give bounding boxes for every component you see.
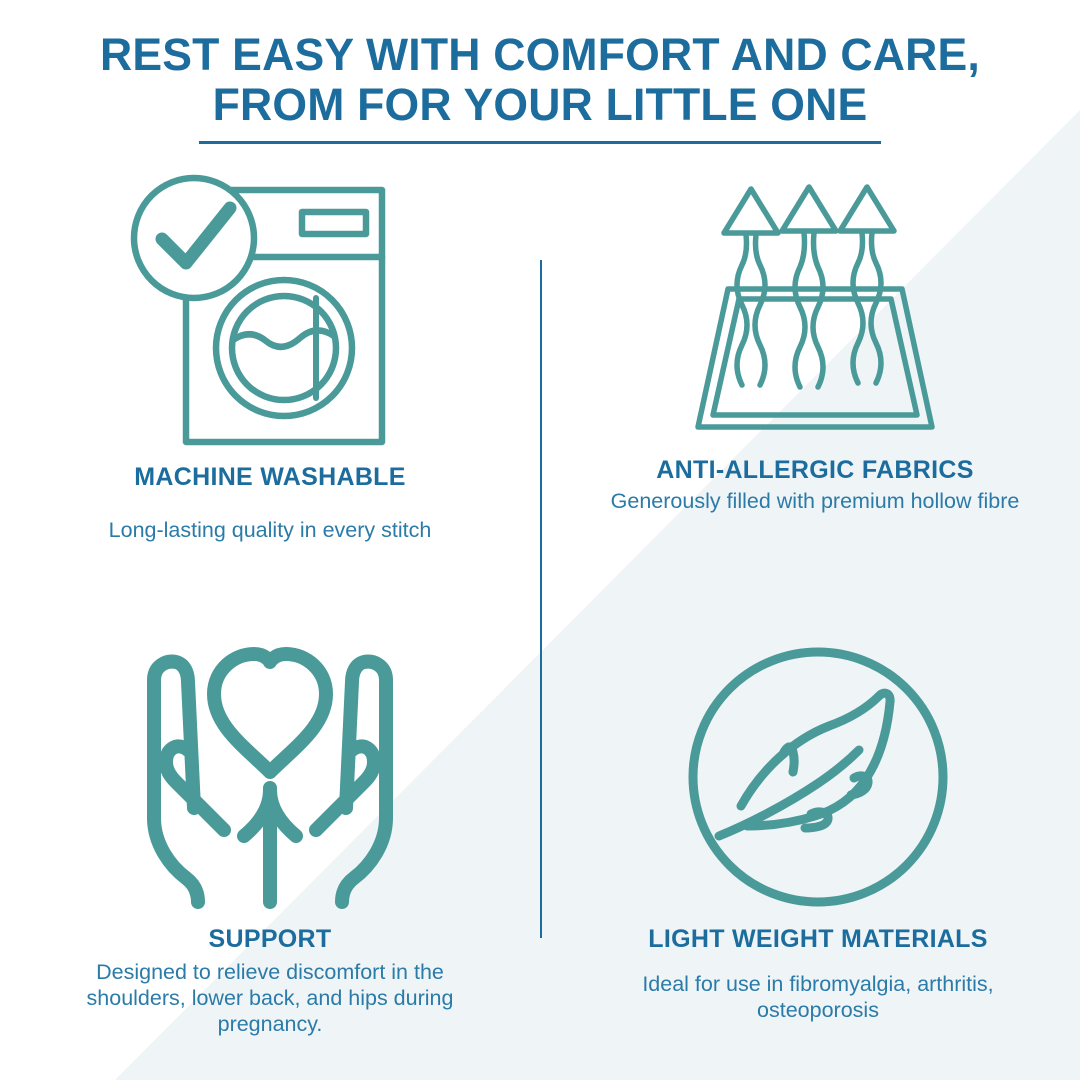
feature-body-support: Designed to relieve discomfort in the sh… (60, 959, 480, 1037)
feature-body-light-weight: Ideal for use in fibromyalgia, arthritis… (608, 971, 1028, 1023)
vertical-divider (540, 260, 542, 938)
hands-holding-heart-icon (128, 630, 412, 916)
feature-heading-machine-washable: MACHINE WASHABLE (60, 464, 480, 491)
breathable-fabric-arrows-icon-wrap (610, 172, 1020, 450)
page-title: REST EASY WITH COMFORT AND CARE, FROM FO… (0, 30, 1080, 144)
hands-holding-heart-icon-wrap (60, 628, 480, 918)
feature-card-support: SUPPORT Designed to relieve discomfort i… (60, 628, 480, 1037)
feature-heading-anti-allergic: ANTI-ALLERGIC FABRICS (610, 457, 1020, 484)
feature-card-machine-washable: MACHINE WASHABLE Long-lasting quality in… (60, 160, 480, 543)
feather-in-circle-icon-wrap (608, 636, 1028, 918)
feature-card-light-weight: LIGHT WEIGHT MATERIALS Ideal for use in … (608, 636, 1028, 1023)
feather-in-circle-icon (683, 642, 953, 912)
feature-body-anti-allergic: Generously filled with premium hollow fi… (610, 488, 1020, 514)
page-title-line-2: FROM FOR YOUR LITTLE ONE (5, 80, 1074, 130)
title-underline-rule (199, 141, 881, 144)
feature-card-anti-allergic: ANTI-ALLERGIC FABRICS Generously filled … (610, 172, 1020, 514)
content-layer: REST EASY WITH COMFORT AND CARE, FROM FO… (0, 0, 1080, 1080)
breathable-fabric-arrows-icon (684, 175, 946, 447)
feature-heading-support: SUPPORT (60, 926, 480, 953)
page-title-line-1: REST EASY WITH COMFORT AND CARE, (5, 30, 1074, 80)
infographic-page: REST EASY WITH COMFORT AND CARE, FROM FO… (0, 0, 1080, 1080)
washing-machine-check-icon-wrap (60, 160, 480, 456)
washing-machine-check-icon (120, 160, 420, 456)
feature-heading-light-weight: LIGHT WEIGHT MATERIALS (608, 926, 1028, 953)
feature-body-machine-washable: Long-lasting quality in every stitch (60, 517, 480, 543)
